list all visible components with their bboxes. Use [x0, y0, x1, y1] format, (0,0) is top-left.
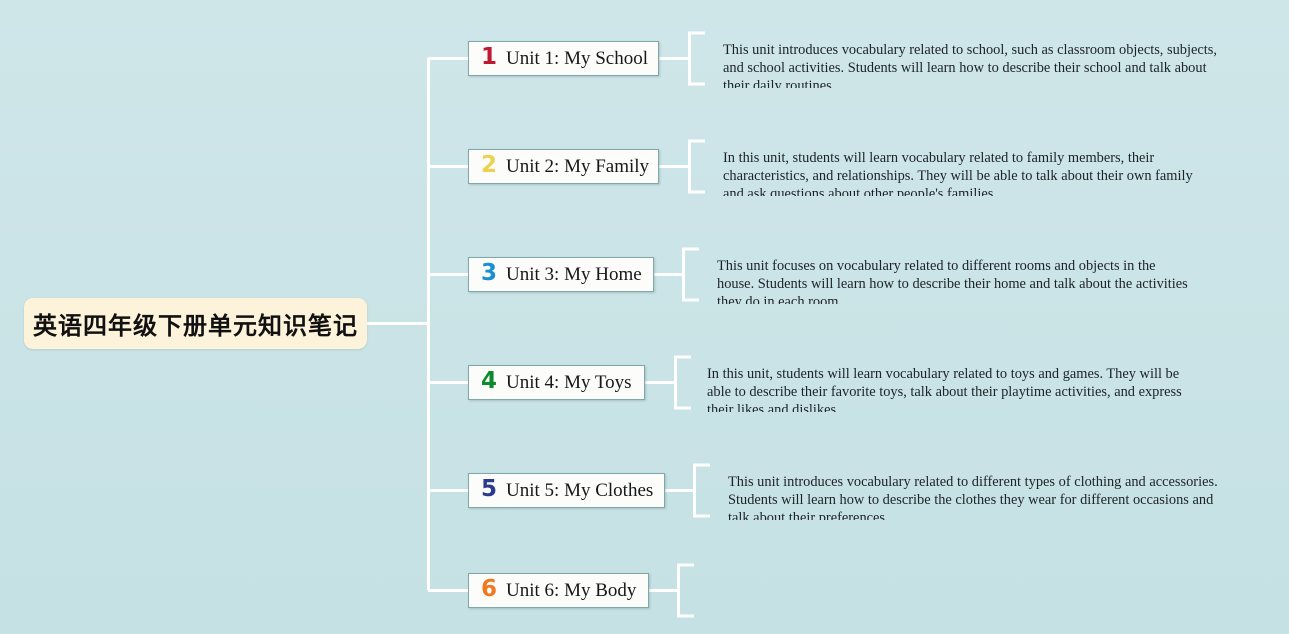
- unit-node-2[interactable]: 2 Unit 2: My Family: [468, 149, 659, 184]
- unit-title-5: Unit 5: My Clothes: [506, 481, 653, 500]
- unit-node-1[interactable]: 1 Unit 1: My School: [468, 41, 659, 76]
- unit-number-5: 5: [481, 478, 497, 501]
- unit-number-1: 1: [481, 46, 497, 69]
- unit-title-3: Unit 3: My Home: [506, 265, 642, 284]
- unit-description-5: This unit introduces vocabulary related …: [728, 473, 1228, 520]
- unit-number-6: 6: [481, 578, 497, 601]
- unit-node-5[interactable]: 5 Unit 5: My Clothes: [468, 473, 665, 508]
- root-node[interactable]: 英语四年级下册单元知识笔记: [24, 298, 367, 349]
- unit-description-1: This unit introduces vocabulary related …: [723, 41, 1226, 88]
- unit-description-6: [712, 573, 1212, 620]
- unit-node-4[interactable]: 4 Unit 4: My Toys: [468, 365, 645, 400]
- mindmap-canvas: 英语四年级下册单元知识笔记 1 Unit 1: My School This u…: [0, 0, 1289, 634]
- unit-description-4: In this unit, students will learn vocabu…: [707, 365, 1204, 412]
- unit-node-3[interactable]: 3 Unit 3: My Home: [468, 257, 654, 292]
- unit-node-6[interactable]: 6 Unit 6: My Body: [468, 573, 649, 608]
- unit-title-2: Unit 2: My Family: [506, 157, 649, 176]
- unit-description-2: In this unit, students will learn vocabu…: [723, 149, 1210, 196]
- unit-number-4: 4: [481, 370, 497, 393]
- root-node-label: 英语四年级下册单元知识笔记: [33, 306, 358, 341]
- unit-title-4: Unit 4: My Toys: [506, 373, 632, 392]
- unit-number-3: 3: [481, 262, 497, 285]
- unit-title-6: Unit 6: My Body: [506, 581, 636, 600]
- unit-title-1: Unit 1: My School: [506, 49, 648, 68]
- unit-number-2: 2: [481, 154, 497, 177]
- unit-description-3: This unit focuses on vocabulary related …: [717, 257, 1196, 304]
